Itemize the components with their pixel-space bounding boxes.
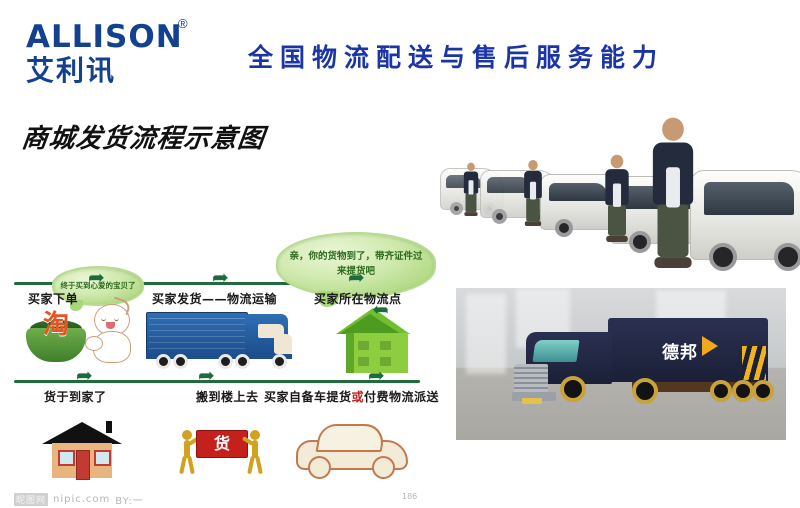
step-label-row2-1: 货于到家了 <box>44 388 107 405</box>
taobao-character: 淘 <box>32 310 80 340</box>
truck-windshield <box>532 340 579 362</box>
truck-wheel-4 <box>732 380 754 402</box>
watermark-id: 186 <box>402 492 417 501</box>
buyer-home-icon <box>44 422 120 480</box>
slide-canvas: ALLISON ® 艾利讯 全国物流配送与售后服务能力 商城发货流程示意图 终于… <box>0 0 800 450</box>
fleet-staff-3 <box>523 160 543 226</box>
step-label-row2-3-hot: 或 <box>352 390 365 404</box>
cargo-carriers-icon: 货 <box>178 426 264 478</box>
flow-rail-row2 <box>14 380 420 383</box>
truck-wheel-2 <box>632 378 658 404</box>
flow-arrow-6: ➦ <box>368 366 385 386</box>
taobao-basket-icon: 淘 <box>22 306 90 362</box>
watermark-by: BY:一 <box>115 492 143 507</box>
buyer-car-icon <box>296 422 406 478</box>
truck-grille <box>514 364 548 392</box>
flow-arrow-5: ➦ <box>198 366 215 386</box>
logistics-truck-icon <box>146 310 294 372</box>
step-label-row2-3-head: 买家自备车提货 <box>264 390 352 404</box>
company-logo: ALLISON ® 艾利讯 <box>26 22 216 90</box>
shipping-flow-diagram: 商城发货流程示意图 终于买到心爱的宝贝了 淘 亲，你的货物到了，带齐证件过来提货… <box>0 104 440 424</box>
fleet-staff-4 <box>463 163 480 216</box>
step-label-row1-2: 买家发货——物流运输 <box>152 290 277 307</box>
logo-chinese-name: 艾利讯 <box>26 56 216 85</box>
fleet-staff-2 <box>604 155 631 242</box>
diagram-title: 商城发货流程示意图 <box>20 118 268 155</box>
watermark: 昵图网 nipic.com BY:一 <box>14 490 294 508</box>
fleet-vehicle-1 <box>690 170 800 260</box>
flow-arrow-wrap: ➦ <box>372 300 389 320</box>
step-label-row2-2: 搬到楼上去 <box>196 388 259 405</box>
truck-wheel-5 <box>752 380 774 402</box>
deppon-brand-label: 德邦 <box>662 338 698 363</box>
step-label-row1-1: 买家下单 <box>28 290 78 307</box>
flow-arrow-4: ➦ <box>76 366 93 386</box>
truck-wheel-3 <box>710 380 732 402</box>
truck-licence-plate <box>522 398 542 404</box>
watermark-site: nipic.com <box>53 494 110 505</box>
watermark-tag: 昵图网 <box>14 493 48 506</box>
truck-hazard-stripes <box>742 346 766 380</box>
fleet-staff-1 <box>650 118 697 268</box>
truck-wheel-1 <box>560 376 586 402</box>
flow-arrow-2: ➦ <box>212 268 229 288</box>
page-title: 全国物流配送与售后服务能力 <box>248 38 768 74</box>
photo-deppon-truck: 德邦 <box>456 288 786 440</box>
flow-arrow-3: ➦ <box>348 268 365 288</box>
deppon-arrow-icon <box>702 336 718 356</box>
registered-trademark-icon: ® <box>178 16 188 31</box>
flow-arrow-1: ➦ <box>88 268 105 288</box>
step-label-row2-3-tail: 付费物流派送 <box>364 390 439 404</box>
buyer-figure-icon <box>88 302 138 364</box>
step-label-row2-3: 买家自备车提货或付费物流派送 <box>264 388 439 405</box>
cargo-box-label: 货 <box>196 430 248 458</box>
photo-service-fleet <box>440 112 800 272</box>
